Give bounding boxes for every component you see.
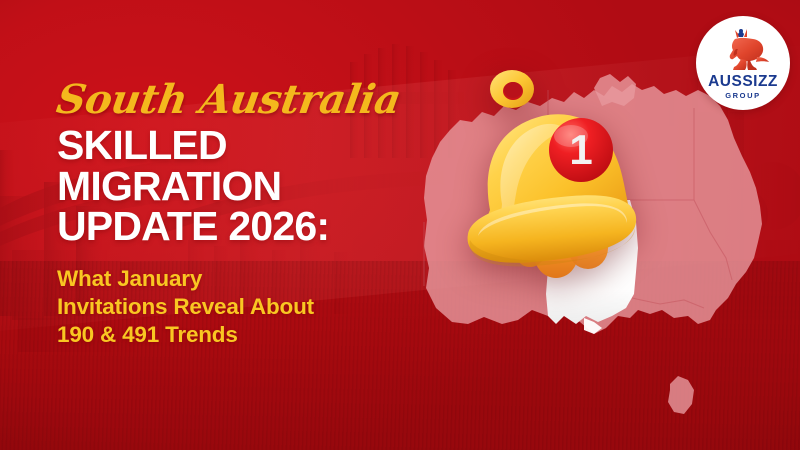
copy-block: South Australia SKILLED MIGRATION UPDATE…	[57, 80, 417, 350]
headline-line-3: UPDATE 2026:	[57, 206, 417, 247]
headline-line-2: MIGRATION	[57, 166, 417, 207]
notification-bell-icon: 1	[438, 58, 648, 288]
subheadline-line-3: 190 & 491 Trends	[57, 321, 417, 349]
headline-line-1: SKILLED	[57, 125, 417, 166]
headline: SKILLED MIGRATION UPDATE 2026:	[57, 125, 417, 247]
bell-badge-count: 1	[569, 126, 592, 173]
logo-wordmark: AUSSIZZ	[708, 74, 778, 90]
banner-root: 1 South Australia SKILLED MIGRATION UPDA…	[0, 0, 800, 450]
aussizz-group-logo[interactable]: AUSSIZZ GROUP	[696, 16, 790, 110]
eyebrow-script-text: South Australia	[54, 80, 420, 120]
subheadline: What January Invitations Reveal About 19…	[57, 265, 417, 350]
subheadline-line-1: What January	[57, 265, 417, 293]
subheadline-line-2: Invitations Reveal About	[57, 293, 417, 321]
logo-subtext: GROUP	[725, 92, 761, 100]
kangaroo-icon	[717, 29, 769, 73]
